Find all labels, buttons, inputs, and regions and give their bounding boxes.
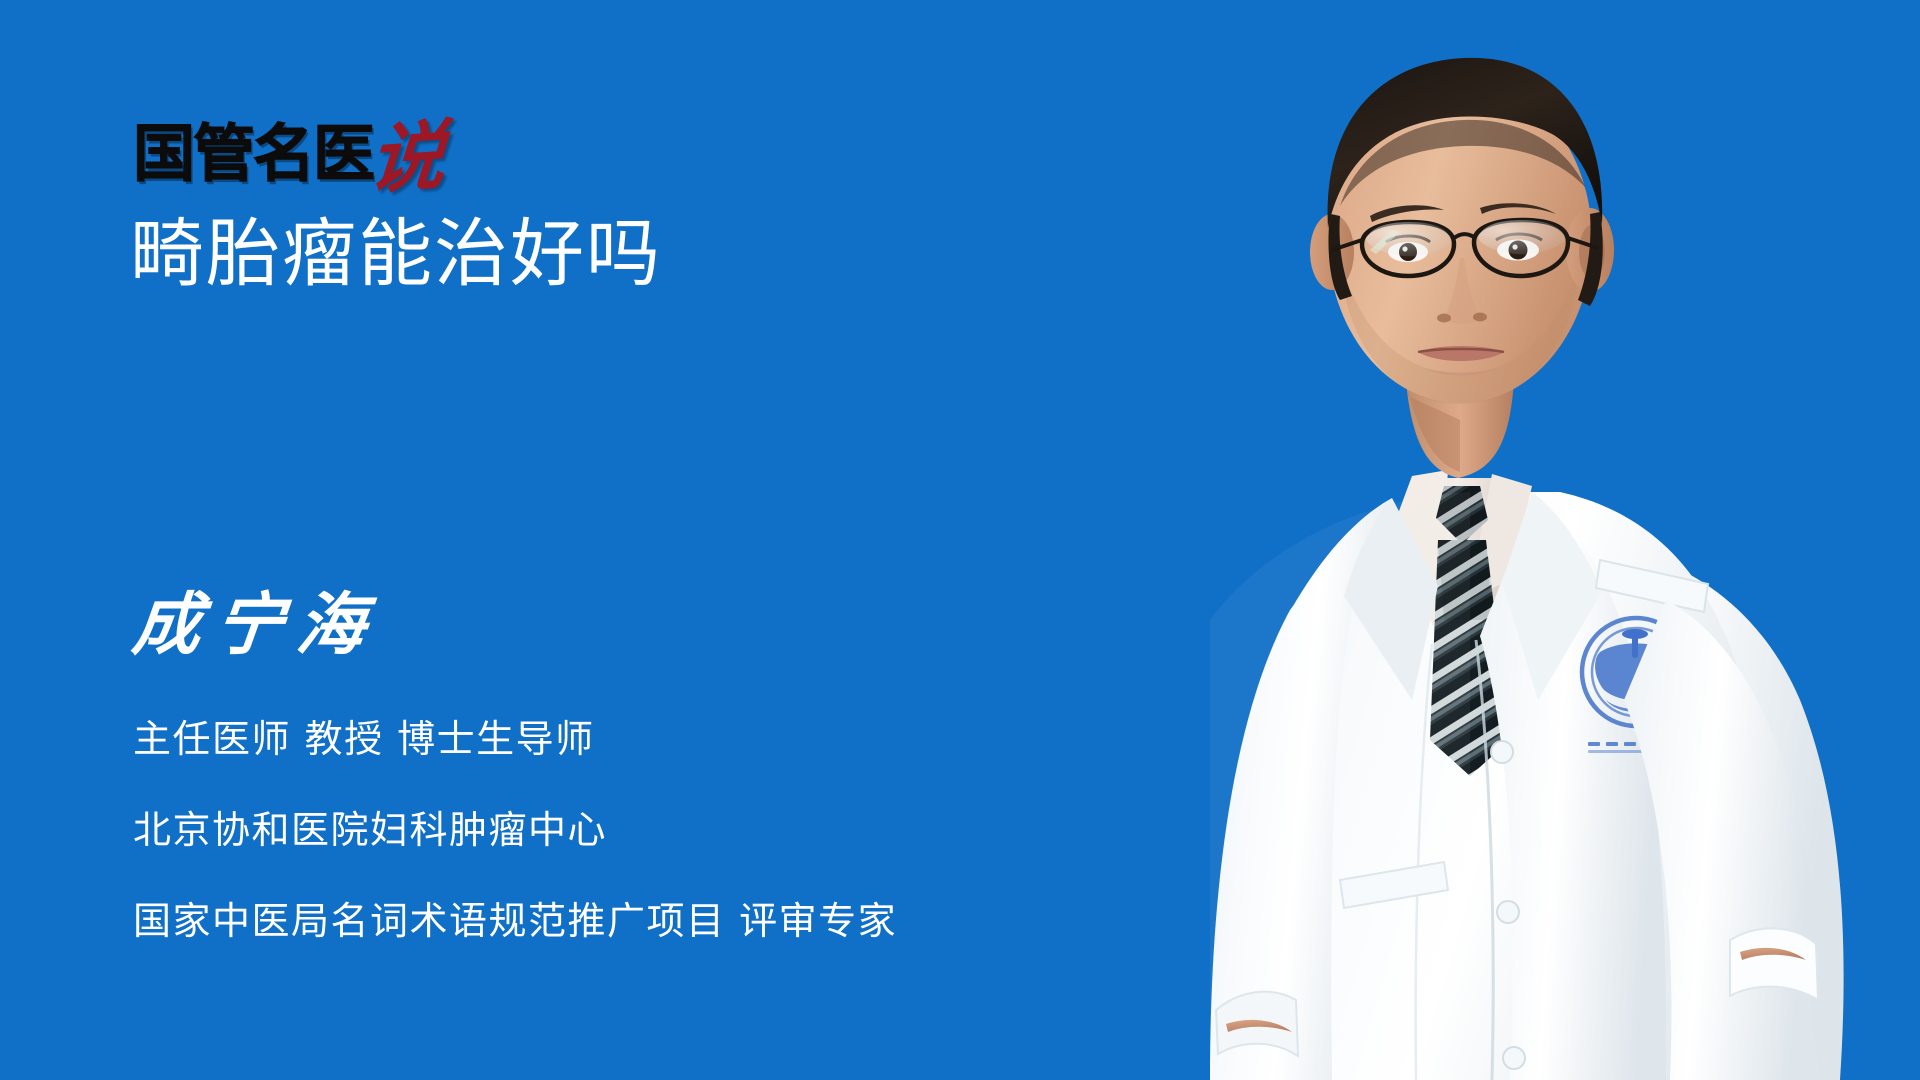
doctor-portrait-photo [1040, 0, 1920, 1080]
program-logo-accent-text: 说 [367, 124, 448, 191]
program-logo-main-text: 国管名医 [133, 123, 373, 185]
slide-canvas: 国管名医 说 畸胎瘤能治好吗 成宁海 主任医师 教授 博士生导师 北京协和医院妇… [0, 0, 1920, 1080]
doctor-credentials: 主任医师 教授 博士生导师 北京协和医院妇科肿瘤中心 国家中医局名词术语规范推广… [133, 718, 897, 943]
page-title: 畸胎瘤能治好吗 [130, 212, 662, 296]
program-logo: 国管名医 说 [133, 113, 445, 185]
credential-line: 主任医师 教授 博士生导师 [133, 718, 897, 761]
credential-line: 国家中医局名词术语规范推广项目 评审专家 [133, 900, 897, 943]
doctor-name: 成宁海 [129, 587, 383, 663]
credential-line: 北京协和医院妇科肿瘤中心 [133, 809, 897, 852]
